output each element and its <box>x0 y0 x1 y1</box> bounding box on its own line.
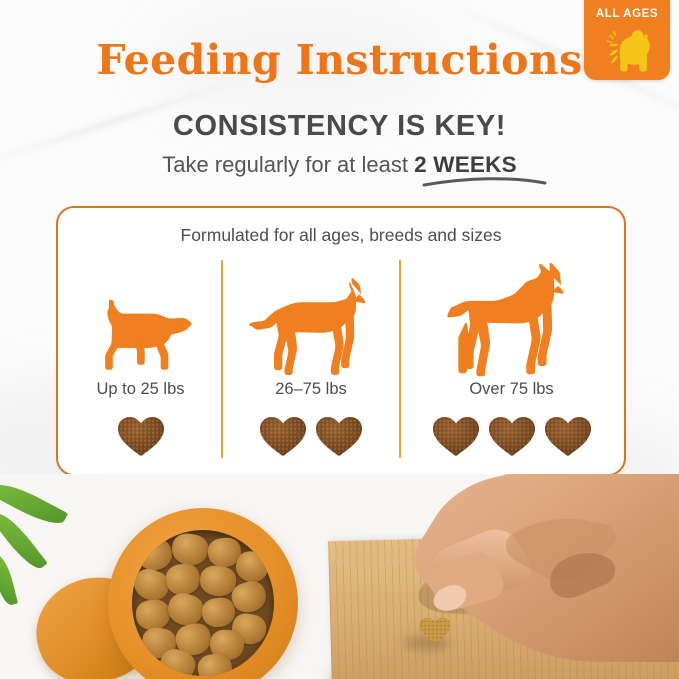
medium-dog-container <box>223 260 399 378</box>
large-dog-silhouette <box>442 262 582 378</box>
subtitle: CONSISTENCY IS KEY! <box>0 110 679 143</box>
kibble-piece <box>170 531 210 567</box>
heart-treat-icon <box>258 412 308 458</box>
large-dog-container <box>401 260 622 378</box>
hand <box>392 474 679 666</box>
heart-treat-icon <box>543 412 593 458</box>
heart-treat-icon <box>116 412 166 458</box>
card-heading: Formulated for all ages, breeds and size… <box>58 225 624 246</box>
treat-count-large <box>401 408 622 462</box>
tagline: Take regularly for at least 2 WEEKS <box>0 152 679 178</box>
all-ages-badge: ALL AGES <box>584 0 670 80</box>
heart-treat-icon <box>487 412 537 458</box>
page-title: Feeding Instructions <box>0 36 679 84</box>
tagline-duration: 2 WEEKS <box>414 152 517 177</box>
weight-label-large: Over 75 lbs <box>401 380 622 399</box>
feeding-column-large: Over 75 lbs <box>401 260 622 460</box>
weight-label-small: Up to 25 lbs <box>60 380 221 399</box>
treat-count-small <box>60 408 221 462</box>
feeding-column-medium: 26–75 lbs <box>223 260 399 460</box>
weight-label-medium: 26–75 lbs <box>223 380 399 399</box>
medium-dog-silhouette <box>246 278 376 378</box>
kibble-piece <box>135 599 171 632</box>
heart-treat-icon <box>314 412 364 458</box>
jar-opening <box>132 530 274 676</box>
sitting-dog-icon <box>600 24 656 74</box>
small-dog-container <box>60 260 221 378</box>
product-photo <box>0 474 679 679</box>
feeding-column-small: Up to 25 lbs <box>60 260 221 460</box>
small-dog-silhouette <box>85 298 197 378</box>
feeding-chart-card: Formulated for all ages, breeds and size… <box>56 206 626 476</box>
tagline-prefix: Take regularly for at least <box>162 152 414 177</box>
all-ages-badge-label: ALL AGES <box>584 8 670 20</box>
heart-treat-icon <box>431 412 481 458</box>
treat-count-medium <box>223 408 399 462</box>
